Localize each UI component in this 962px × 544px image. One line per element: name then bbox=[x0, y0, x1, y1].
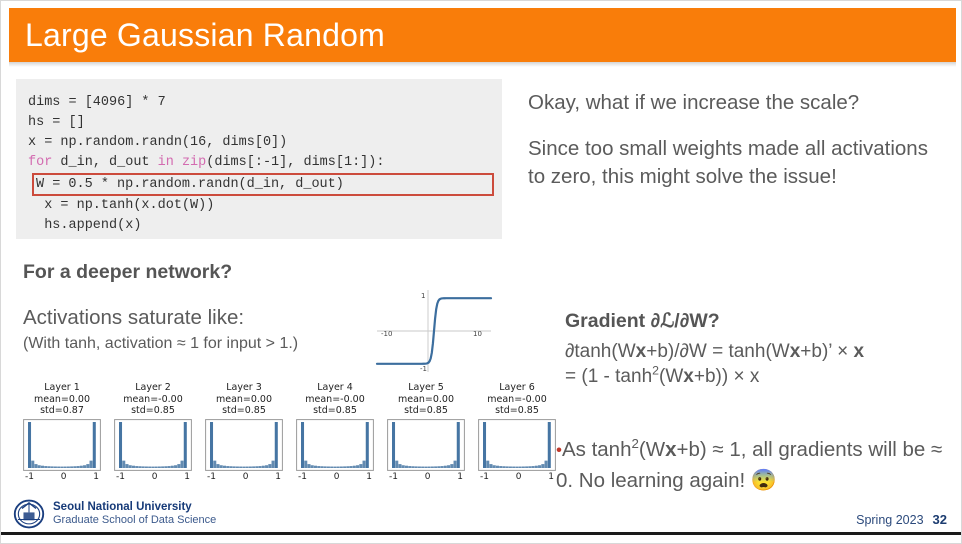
layer-xtick: -1 bbox=[480, 472, 489, 482]
activations-note: (With tanh, activation ≈ 1 for input > 1… bbox=[23, 335, 298, 353]
layer-xtick: 1 bbox=[275, 472, 281, 482]
layer-histogram-svg bbox=[387, 419, 465, 471]
code-line: x = np.random.randn(16, dims[0]) bbox=[28, 133, 490, 153]
brand-text: Seoul National University Graduate Schoo… bbox=[53, 501, 216, 527]
layer-xtick: -1 bbox=[389, 472, 398, 482]
layer-histogram-svg bbox=[478, 419, 556, 471]
layer-xtick: 1 bbox=[93, 472, 99, 482]
conclusion-a: As tanh bbox=[562, 438, 632, 461]
code-line: hs = [] bbox=[28, 113, 490, 133]
eq1-c: +b)’ × bbox=[800, 341, 853, 362]
tanh-ytick-neg1: -1 bbox=[420, 365, 427, 373]
layer-caption: Layer 4 mean=-0.00 std=0.85 bbox=[305, 382, 364, 417]
layer-xtick: 0 bbox=[516, 472, 522, 482]
layer-xtick-row: -101 bbox=[205, 472, 283, 482]
layer-histogram-svg bbox=[205, 419, 283, 471]
layer-histogram-svg bbox=[296, 419, 374, 471]
eq2-superscript: 2 bbox=[652, 364, 659, 378]
eq1-b: +b)/∂W = tanh(W bbox=[646, 341, 789, 362]
tanh-ytick-pos1: 1 bbox=[421, 292, 425, 300]
layer-histogram-svg bbox=[23, 419, 101, 471]
code-line: hs.append(x) bbox=[28, 216, 490, 236]
layer-histogram-panel: Layer 2 mean=-0.00 std=0.85-101 bbox=[108, 382, 198, 482]
intro-paragraph-2: Since too small weights made all activat… bbox=[528, 135, 943, 191]
layer-xtick-row: -101 bbox=[387, 472, 465, 482]
layer-caption: Layer 6 mean=-0.00 std=0.85 bbox=[487, 382, 546, 417]
layer-histogram-panel: Layer 4 mean=-0.00 std=0.85-101 bbox=[290, 382, 380, 482]
banner-shadow bbox=[9, 62, 956, 67]
brand-name: Seoul National University bbox=[53, 501, 216, 514]
activations-saturate-label: Activations saturate like: bbox=[23, 306, 244, 330]
page-number: 32 bbox=[933, 512, 947, 527]
eq1-x2: x bbox=[790, 341, 801, 362]
footer-right: Spring 2023 32 bbox=[856, 512, 947, 527]
eq1-x1: x bbox=[636, 341, 647, 362]
slide-canvas: Large Gaussian Random dims = [4096] * 7 … bbox=[0, 0, 962, 544]
snu-logo-icon bbox=[13, 499, 45, 529]
layer-xtick: 1 bbox=[548, 472, 554, 482]
eq1-x3: x bbox=[853, 341, 864, 362]
intro-paragraph-1: Okay, what if we increase the scale? bbox=[528, 89, 943, 117]
highlight-suffix: * np.random.randn(d_in, d_out) bbox=[93, 175, 344, 195]
layer-caption: Layer 5 mean=0.00 std=0.85 bbox=[398, 382, 454, 417]
eq1-a: ∂tanh(W bbox=[565, 341, 636, 362]
tanh-curve-chart: -10 10 1 -1 bbox=[373, 284, 495, 374]
layer-caption: Layer 2 mean=-0.00 std=0.85 bbox=[123, 382, 182, 417]
layer-caption: Layer 1 mean=0.00 std=0.87 bbox=[34, 382, 90, 417]
gradient-heading: Gradient ∂ℒ/∂W? bbox=[565, 309, 720, 333]
keyword-for: for bbox=[28, 155, 52, 170]
layer-xtick: -1 bbox=[207, 472, 216, 482]
eq2-c: +b)) × x bbox=[694, 366, 759, 387]
layer-xtick: 0 bbox=[61, 472, 67, 482]
anxious-face-emoji-icon: 😨 bbox=[751, 469, 777, 492]
layer-xtick-row: -101 bbox=[114, 472, 192, 482]
layer-xtick: 1 bbox=[366, 472, 372, 482]
tanh-xtick-pos10: 10 bbox=[473, 330, 482, 338]
term-label: Spring 2023 bbox=[856, 513, 923, 527]
keyword-in: in bbox=[158, 155, 174, 170]
conclusion-superscript: 2 bbox=[631, 436, 638, 451]
highlight-prefix: W = bbox=[36, 175, 68, 195]
tanh-xtick-neg10: -10 bbox=[381, 330, 392, 338]
layer-xtick-row: -101 bbox=[23, 472, 101, 482]
layer-xtick: -1 bbox=[298, 472, 307, 482]
layer-xtick: -1 bbox=[25, 472, 34, 482]
layer-histogram-strip: Layer 1 mean=0.00 std=0.87-101Layer 2 me… bbox=[17, 382, 565, 482]
gradient-equation-line-2: = (1 - tanh2(Wx+b)) × x bbox=[565, 366, 759, 388]
conclusion-bullet: •As tanh2(Wx+b) ≈ 1, all gradients will … bbox=[556, 435, 956, 496]
footer-brand: Seoul National University Graduate Schoo… bbox=[13, 499, 216, 529]
for-tail: (dims[:-1], dims[1:]): bbox=[206, 155, 384, 170]
layer-xtick: -1 bbox=[116, 472, 125, 482]
eq2-a: = (1 - tanh bbox=[565, 366, 652, 387]
layer-histogram-panel: Layer 1 mean=0.00 std=0.87-101 bbox=[17, 382, 107, 482]
eq2-x: x bbox=[683, 366, 694, 387]
layer-xtick-row: -101 bbox=[478, 472, 556, 482]
layer-xtick: 0 bbox=[425, 472, 431, 482]
layer-histogram-panel: Layer 3 mean=0.00 std=0.85-101 bbox=[199, 382, 289, 482]
tanh-curve-svg: -10 10 1 -1 bbox=[373, 284, 495, 374]
layer-xtick: 1 bbox=[457, 472, 463, 482]
intro-text-block: Okay, what if we increase the scale? Sin… bbox=[528, 89, 943, 209]
code-block: dims = [4096] * 7 hs = [] x = np.random.… bbox=[16, 79, 502, 239]
code-line: x = np.tanh(x.dot(W)) bbox=[28, 196, 490, 216]
highlight-scale-value: 0.5 bbox=[68, 175, 92, 195]
code-line: dims = [4096] * 7 bbox=[28, 93, 490, 113]
layer-xtick: 0 bbox=[152, 472, 158, 482]
layer-xtick-row: -101 bbox=[296, 472, 374, 482]
title-banner: Large Gaussian Random bbox=[9, 8, 956, 62]
layer-histogram-svg bbox=[114, 419, 192, 471]
conclusion-x: x bbox=[665, 438, 676, 461]
layer-xtick: 0 bbox=[334, 472, 340, 482]
layer-caption: Layer 3 mean=0.00 std=0.85 bbox=[216, 382, 272, 417]
deeper-network-heading: For a deeper network? bbox=[23, 261, 232, 284]
brand-subtitle: Graduate School of Data Science bbox=[53, 514, 216, 527]
layer-histogram-panel: Layer 5 mean=0.00 std=0.85-101 bbox=[381, 382, 471, 482]
eq2-b: (W bbox=[659, 366, 683, 387]
keyword-zip: zip bbox=[174, 155, 206, 170]
footer-divider bbox=[1, 532, 961, 535]
for-mid: d_in, d_out bbox=[52, 155, 157, 170]
layer-histogram-panel: Layer 6 mean=-0.00 std=0.85-101 bbox=[472, 382, 562, 482]
code-line-for: for d_in, d_out in zip(dims[:-1], dims[1… bbox=[28, 153, 490, 173]
layer-xtick: 0 bbox=[243, 472, 249, 482]
gradient-equation-line-1: ∂tanh(Wx+b)/∂W = tanh(Wx+b)’ × x bbox=[565, 341, 864, 363]
code-highlight-box: W = 0.5 * np.random.randn(d_in, d_out) bbox=[32, 173, 494, 196]
layer-xtick: 1 bbox=[184, 472, 190, 482]
page-title: Large Gaussian Random bbox=[9, 17, 385, 54]
conclusion-b: (W bbox=[639, 438, 665, 461]
